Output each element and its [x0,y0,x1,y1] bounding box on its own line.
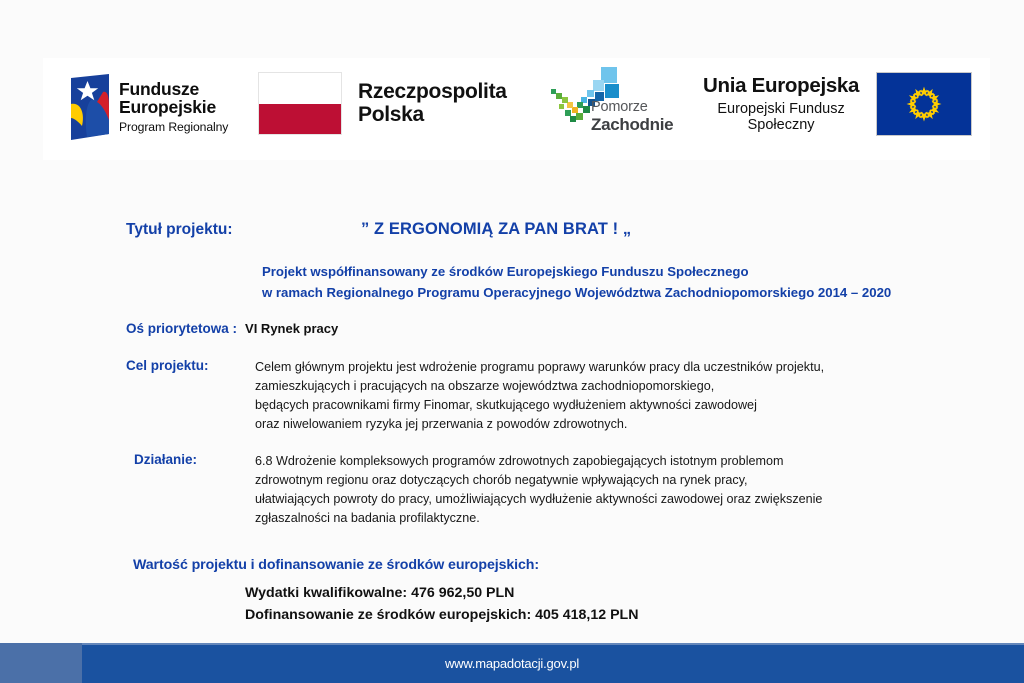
project-title-value: ” Z ERGONOMIĄ ZA PAN BRAT ! „ [361,220,631,239]
project-goal-block: Cel projektu: Celem głównym projektu jes… [126,358,824,435]
project-subtitle: Projekt współfinansowany ze środków Euro… [262,261,891,304]
logo-fundusze-europejskie: Fundusze Europejskie Program Regionalny [65,74,228,140]
footer-bar: www.mapadotacji.gov.pl [0,643,1024,683]
fundusze-europejskie-star-mark-icon [65,74,110,140]
priority-axis-row: Oś priorytetowa : VI Rynek pracy [126,321,338,336]
fundusze-europejskie-text: Fundusze Europejskie Program Regionalny [119,81,228,133]
project-title-row: Tytuł projektu: ” Z ERGONOMIĄ ZA PAN BRA… [126,220,986,239]
fe-line-1: Fundusze [119,81,228,99]
goal-line-3: będących pracownikami firmy Finomar, sku… [255,396,824,415]
priority-axis-value: VI Rynek pracy [245,321,338,336]
logo-pomorze-zachodnie: Pomorze Zachodnie [543,66,678,152]
project-action-block: Działanie: 6.8 Wdrożenie kompleksowych p… [134,452,822,529]
logo-rzeczpospolita-polska: Rzeczpospolita Polska [258,72,507,135]
project-finance-block: Wartość projektu i dofinansowanie ze śro… [133,557,638,626]
fe-line-3: Program Regionalny [119,121,228,133]
action-line-3: ułatwiających powroty do pracy, umożliwi… [255,490,822,509]
action-line-2: zdrowotnym regionu oraz dotyczących chor… [255,471,822,490]
finance-heading: Wartość projektu i dofinansowanie ze śro… [133,557,638,573]
rp-line-2: Polska [358,104,507,127]
goal-line-1: Celem głównym projektu jest wdrożenie pr… [255,358,824,377]
footer-url[interactable]: www.mapadotacji.gov.pl [0,643,1024,683]
action-line-1: 6.8 Wdrożenie kompleksowych programów zd… [255,452,822,471]
rzeczpospolita-text: Rzeczpospolita Polska [358,81,507,126]
project-action-text: 6.8 Wdrożenie kompleksowych programów zd… [255,452,822,529]
fe-line-2: Europejskie [119,99,228,117]
finance-amounts: Wydatki kwalifikowalne: 476 962,50 PLN D… [245,583,638,626]
project-title-label: Tytuł projektu: [126,221,361,239]
goal-line-4: oraz niwelowaniem ryzyka jej przerwania … [255,415,824,434]
priority-axis-label: Oś priorytetowa : [126,321,237,336]
unia-europejska-text: Unia Europejska Europejski Fundusz Społe… [703,75,859,133]
subtitle-line-1: Projekt współfinansowany ze środków Euro… [262,261,891,282]
project-info-content: Tytuł projektu: ” Z ERGONOMIĄ ZA PAN BRA… [0,160,1024,640]
european-union-flag-icon [876,72,972,136]
subtitle-line-2: w ramach Regionalnego Programu Operacyjn… [262,282,891,303]
ue-line-3: Społeczny [703,117,859,133]
flag-stripe-red [259,104,341,135]
logo-band: Fundusze Europejskie Program Regionalny … [43,58,990,160]
pz-line-2: Zachodnie [591,116,673,133]
polish-flag-icon [258,72,342,135]
ue-line-2: Europejski Fundusz [703,101,859,117]
action-line-4: zgłaszalności na badania profilaktyczne. [255,509,822,528]
ue-line-1: Unia Europejska [703,75,859,98]
rp-line-1: Rzeczpospolita [358,81,507,104]
pz-line-1: Pomorze [591,100,673,115]
finance-eu-cofunding: Dofinansowanie ze środków europejskich: … [245,605,638,627]
finance-eligible-expenses: Wydatki kwalifikowalne: 476 962,50 PLN [245,583,638,605]
project-goal-text: Celem głównym projektu jest wdrożenie pr… [255,358,824,435]
logo-unia-europejska: Unia Europejska Europejski Fundusz Społe… [703,72,972,136]
flag-stripe-white [259,73,341,104]
goal-line-2: zamieszkujących i pracujących na obszarz… [255,377,824,396]
project-action-label: Działanie: [134,452,255,529]
pomorze-zachodnie-text: Pomorze Zachodnie [591,100,673,133]
project-goal-label: Cel projektu: [126,358,255,435]
